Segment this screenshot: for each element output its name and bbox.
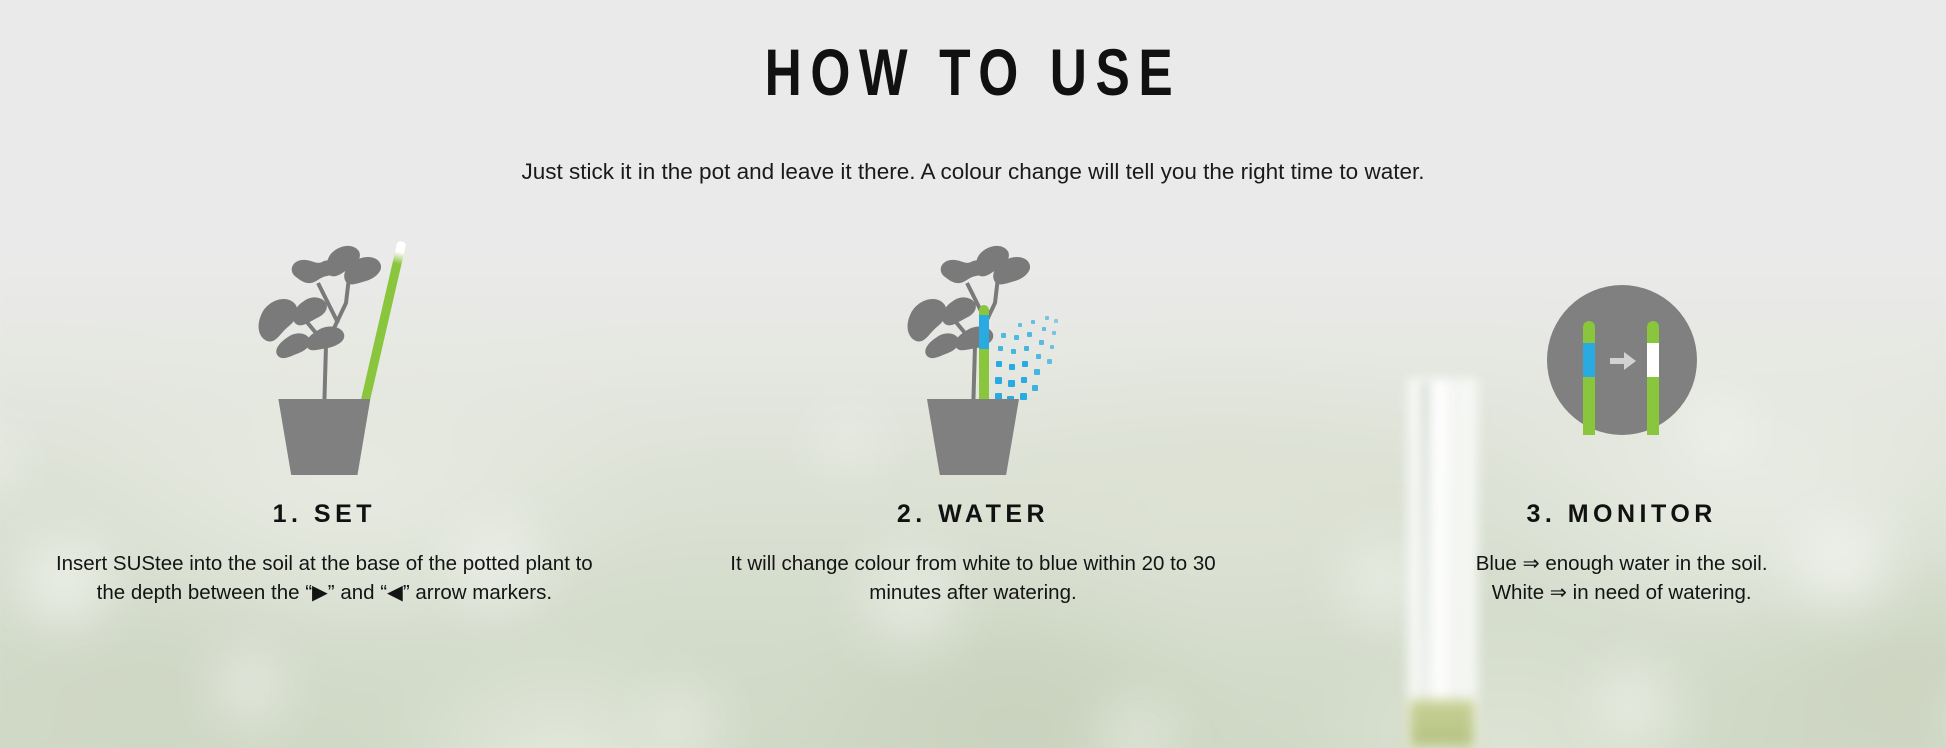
step-monitor-body: Blue ⇒ enough water in the soil. White ⇒… [1342,549,1902,607]
step-water-illustration [649,225,1298,475]
potted-plant-watering-illustration [883,225,1063,475]
step-monitor: 3. MONITOR Blue ⇒ enough water in the so… [1297,225,1946,607]
sustee-window-white [1647,343,1659,377]
arrow-right-icon [1610,352,1636,370]
step-monitor-title: 3. MONITOR [1526,500,1716,529]
flower-pot-icon [927,399,1019,475]
step-monitor-body-line1: Blue ⇒ enough water in the soil. [1342,549,1902,578]
flower-pot-icon [278,399,370,475]
step-set-body-line2: the depth between the “▶” and “◀” arrow … [44,578,604,607]
sustee-stick-white-state [1647,321,1659,435]
sustee-stick-blue-state [1583,321,1595,435]
step-water-body: It will change colour from white to blue… [693,549,1253,607]
steps-row: ▼ 1. SET Insert SUStee into the soil at … [0,225,1946,607]
how-to-use-section: HOW TO USE Just stick it in the pot and … [0,0,1946,748]
sustee-window-blue [979,315,989,349]
step-set-body-line1: Insert SUStee into the soil at the base … [44,549,604,578]
page-title: HOW TO USE [214,36,1732,108]
step-monitor-body-line2: White ⇒ in need of watering. [1342,578,1902,607]
step-set-body: Insert SUStee into the soil at the base … [44,549,604,607]
step-water-body-line2: minutes after watering. [693,578,1253,607]
potted-plant-illustration: ▼ [234,225,414,475]
step-set-illustration: ▼ [0,225,649,475]
step-water-title: 2. WATER [897,500,1049,529]
step-set-title: 1. SET [273,500,376,529]
step-monitor-illustration [1297,225,1946,475]
page-subtitle: Just stick it in the pot and leave it th… [0,158,1946,186]
sustee-window-blue [1583,343,1595,377]
step-water-body-line1: It will change colour from white to blue… [693,549,1253,578]
step-set: ▼ 1. SET Insert SUStee into the soil at … [0,225,649,607]
monitor-comparison-circle [1547,285,1697,435]
step-water: 2. WATER It will change colour from whit… [649,225,1298,607]
